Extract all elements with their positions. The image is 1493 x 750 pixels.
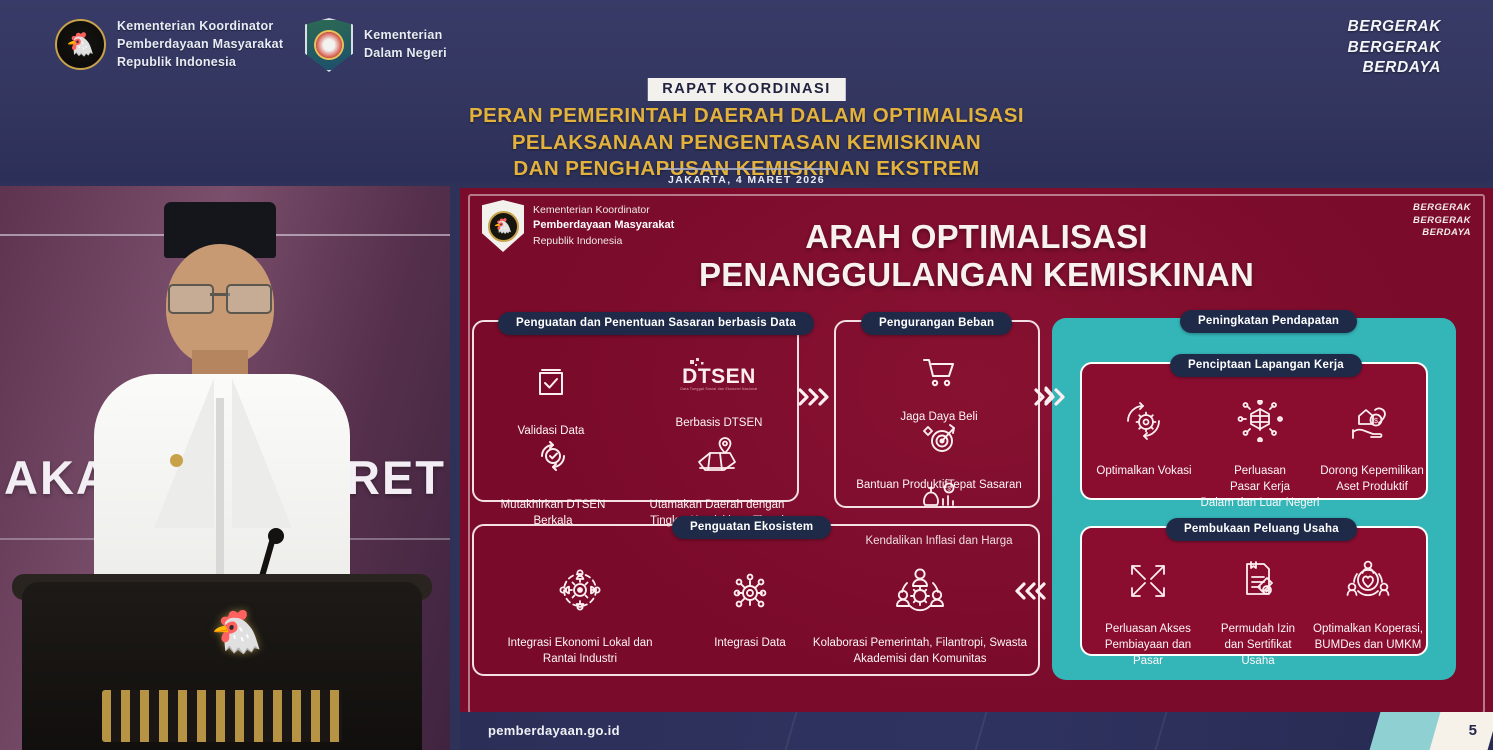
job-market-network-icon <box>1192 400 1328 442</box>
slide-page-number: 5 <box>1469 722 1477 739</box>
item-berbasis-dtsen: DTSEN Data Tunggal Sosial dan Ekonomi Na… <box>644 342 794 431</box>
item-perluasan-pasar-kerja: Perluasan Pasar Kerja Dalam dan Luar Neg… <box>1192 384 1328 511</box>
speaker-figure: 🐔 <box>92 202 352 750</box>
title-divider <box>663 168 831 170</box>
item-kolaborasi: Kolaborasi Pemerintah, Filantropi, Swast… <box>802 550 1038 667</box>
chevron-right-group-1 <box>796 386 830 408</box>
podium-ornament <box>102 690 342 742</box>
dtsen-logo-icon: DTSEN Data Tunggal Sosial dan Ekonomi Na… <box>644 358 794 394</box>
cooperative-umkm-icon <box>1308 560 1428 600</box>
block-income-increase: Optimalkan Vokasi Perluasan Pasar Kerja … <box>1052 318 1456 680</box>
item-permudah-izin: Permudah Izin dan Sertifikat Usaha <box>1200 544 1316 669</box>
speaker-video-pane: AKART MARET 🐔 <box>0 186 450 750</box>
meeting-date: JAKARTA, 4 MARET 2026 <box>668 174 825 186</box>
item-integrasi-data: Integrasi Data <box>682 550 818 651</box>
garuda-seal-icon: 🐔 <box>55 19 106 70</box>
checklist-document-icon <box>486 362 616 402</box>
block-data-targeting: Validasi Data DTSEN Data Tunggal Sosial … <box>472 320 799 502</box>
pill-ecosystem: Penguatan Ekosistem <box>672 516 831 539</box>
subblock-business-opportunity: Perluasan Akses Pembiayaan dan Pasar Per… <box>1080 526 1428 656</box>
market-expansion-arrows-icon <box>1086 560 1210 600</box>
collaboration-people-icon <box>802 566 1038 614</box>
price-control-icon: $ <box>836 482 1042 512</box>
podium-garuda-emblem-icon: 🐔 <box>200 602 274 662</box>
slide-footer: pemberdayaan.go.id 5 <box>460 712 1493 750</box>
slide-title: ARAH OPTIMALISASI PENANGGULANGAN KEMISKI… <box>460 218 1493 295</box>
svg-text:$: $ <box>1374 418 1378 425</box>
target-arrow-icon <box>836 422 1042 456</box>
svg-text:Data Tunggal Sosial dan Ekonom: Data Tunggal Sosial dan Ekonomi Nasional <box>680 387 757 391</box>
top-banner: 🐔 Kementerian Koordinator Pemberdayaan M… <box>0 0 1493 182</box>
item-label: Optimalkan Koperasi, BUMDes dan UMKM <box>1313 623 1423 651</box>
shopping-cart-icon <box>836 356 1042 388</box>
meeting-title: PERAN PEMERINTAH DAERAH DALAM OPTIMALISA… <box>407 103 1087 183</box>
item-mutakhirkan-dtsen: Mutakhirkan DTSEN Berkala <box>480 420 626 529</box>
chevron-right-into-panel <box>1042 384 1056 406</box>
item-label: Dorong Kepemilikan Aset Produktif <box>1320 465 1424 493</box>
local-economy-network-icon <box>486 566 674 614</box>
item-label: Kolaborasi Pemerintah, Filantropi, Swast… <box>813 637 1027 665</box>
logo-kemendagri: Kementerian Dalam Negeri <box>305 18 447 72</box>
item-dorong-kepemilikan-aset: $ Dorong Kepemilikan Aset Produktif <box>1316 384 1428 495</box>
speaker-glasses-icon <box>168 284 272 310</box>
logo-kemenko-pmk: 🐔 Kementerian Koordinator Pemberdayaan M… <box>55 18 283 71</box>
map-pin-region-icon <box>636 436 798 476</box>
item-utamakan-daerah: Utamakan Daerah dengan Tingkat Kemiskina… <box>636 420 798 529</box>
pill-income-increase: Peningkatan Pendapatan <box>1180 310 1357 333</box>
presentation-slide: 🐔 Kementerian Koordinator Pemberdayaan M… <box>460 188 1493 750</box>
item-label: Integrasi Data <box>714 637 786 649</box>
block-burden-reduction: Jaga Daya Beli Bantuan ProduktifTepat Sa… <box>834 320 1040 508</box>
pill-business-opportunity: Pembukaan Peluang Usaha <box>1166 518 1357 541</box>
data-integration-icon <box>682 566 818 614</box>
item-optimalkan-vokasi: Optimalkan Vokasi <box>1086 384 1202 479</box>
pill-job-creation: Penciptaan Lapangan Kerja <box>1170 354 1362 377</box>
asset-ownership-hand-icon: $ <box>1316 400 1428 442</box>
item-perluasan-akses: Perluasan Akses Pembiayaan dan Pasar <box>1086 544 1210 669</box>
item-optimalkan-koperasi: Optimalkan Koperasi, BUMDes dan UMKM <box>1308 544 1428 653</box>
pill-burden-reduction: Pengurangan Beban <box>861 312 1012 335</box>
chevron-left-group <box>1012 580 1048 602</box>
speaker-lapel-pin <box>170 454 183 467</box>
meeting-kicker: RAPAT KOORDINASI <box>647 78 845 101</box>
item-label: Permudah Izin dan Sertifikat Usaha <box>1221 623 1295 667</box>
permit-certificate-icon <box>1200 560 1316 600</box>
ministry-line1: Kementerian Koordinator <box>533 203 674 218</box>
svg-text:DTSEN: DTSEN <box>682 365 756 388</box>
item-label: Perluasan Pasar Kerja Dalam dan Luar Neg… <box>1201 465 1320 509</box>
block-ecosystem: Integrasi Ekonomi Lokal dan Rantai Indus… <box>472 524 1040 676</box>
vocational-gear-icon <box>1086 400 1202 442</box>
microphone-head-icon <box>268 528 284 544</box>
logo-kemenko-label: Kementerian Koordinator Pemberdayaan Mas… <box>117 18 283 71</box>
kemendagri-shield-icon <box>305 18 353 72</box>
refresh-check-icon <box>480 436 626 476</box>
item-label: Integrasi Ekonomi Lokal dan Rantai Indus… <box>507 637 652 665</box>
footer-url: pemberdayaan.go.id <box>488 723 620 738</box>
item-integrasi-ekonomi: Integrasi Ekonomi Lokal dan Rantai Indus… <box>486 550 674 667</box>
pill-data-targeting: Penguatan dan Penentuan Sasaran berbasis… <box>498 312 814 335</box>
item-label: Perluasan Akses Pembiayaan dan Pasar <box>1105 623 1191 667</box>
bergerak-berdaya-mark: BERGERAK BERGERAK BERDAYA <box>1347 17 1441 79</box>
footer-page-chip <box>1430 712 1493 750</box>
subblock-job-creation: Optimalkan Vokasi Perluasan Pasar Kerja … <box>1080 362 1428 500</box>
item-label: Optimalkan Vokasi <box>1096 465 1191 477</box>
logo-kemendagri-label: Kementerian Dalam Negeri <box>364 27 447 63</box>
